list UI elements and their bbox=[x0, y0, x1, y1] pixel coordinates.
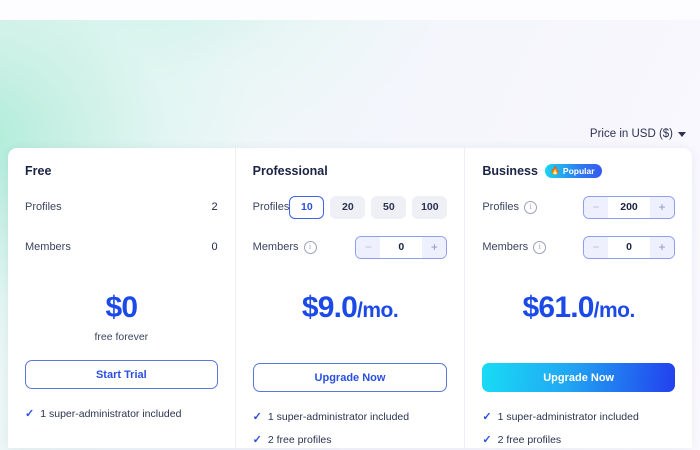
profiles-value[interactable]: 200 bbox=[608, 197, 650, 218]
price-block: $9.0/mo. bbox=[253, 291, 448, 346]
members-row: Membersi−0+ bbox=[482, 235, 675, 259]
profiles-value: 2 bbox=[212, 201, 218, 213]
price-period: /mo. bbox=[594, 299, 635, 322]
price-amount: $61.0 bbox=[523, 291, 594, 324]
feature-item: ✓1 super-administrator included bbox=[482, 411, 675, 423]
profiles-option-100[interactable]: 100 bbox=[412, 196, 447, 219]
profiles-option-50[interactable]: 50 bbox=[371, 196, 406, 219]
cta-button-professional[interactable]: Upgrade Now bbox=[253, 363, 448, 392]
profiles-label-group: Profiles bbox=[25, 201, 62, 213]
price-note: free forever bbox=[25, 331, 218, 343]
info-icon[interactable]: i bbox=[533, 241, 546, 254]
members-value[interactable]: 0 bbox=[380, 237, 422, 258]
profiles-option-20[interactable]: 20 bbox=[330, 196, 365, 219]
profiles-label: Profiles bbox=[253, 201, 290, 213]
check-icon: ✓ bbox=[253, 435, 262, 446]
check-icon: ✓ bbox=[25, 409, 34, 420]
profiles-decrement-button[interactable]: − bbox=[584, 197, 608, 218]
plan-card-free: FreeProfiles2Members0$0free foreverStart… bbox=[8, 148, 235, 448]
check-icon: ✓ bbox=[482, 435, 491, 446]
members-label: Members bbox=[25, 241, 71, 253]
chevron-down-icon bbox=[678, 132, 686, 137]
plan-name: Free bbox=[25, 164, 51, 178]
feature-list: ✓1 super-administrator included bbox=[25, 408, 218, 420]
plan-header: Professional bbox=[253, 163, 448, 179]
feature-label: 1 super-administrator included bbox=[40, 408, 181, 420]
members-increment-button[interactable]: + bbox=[650, 237, 674, 258]
plan-price: $0 bbox=[25, 291, 218, 325]
plan-name: Business bbox=[482, 164, 538, 178]
price-note-spacer bbox=[482, 334, 675, 346]
members-label: Members bbox=[253, 241, 299, 253]
feature-list: ✓1 super-administrator included✓2 free p… bbox=[482, 411, 675, 446]
info-icon[interactable]: i bbox=[304, 241, 317, 254]
plan-header: Free bbox=[25, 163, 218, 179]
feature-item: ✓2 free profiles bbox=[253, 434, 448, 446]
members-decrement-button[interactable]: − bbox=[584, 237, 608, 258]
members-label-group: Membersi bbox=[482, 241, 546, 254]
plan-name: Professional bbox=[253, 164, 328, 178]
info-icon[interactable]: i bbox=[524, 201, 537, 214]
profiles-label-group: Profiles bbox=[253, 201, 290, 213]
members-increment-button[interactable]: + bbox=[422, 237, 446, 258]
cta-button-business[interactable]: Upgrade Now bbox=[482, 363, 675, 392]
price-block: $0free forever bbox=[25, 291, 218, 343]
profiles-row: Profilesi−200+ bbox=[482, 195, 675, 219]
members-row: Membersi−0+ bbox=[253, 235, 448, 259]
profiles-option-10[interactable]: 10 bbox=[289, 196, 324, 219]
members-stepper: −0+ bbox=[583, 236, 675, 259]
members-row: Members0 bbox=[25, 235, 218, 259]
currency-selector[interactable]: Price in USD ($) bbox=[590, 128, 686, 140]
plan-card-professional: ProfessionalProfiles102050100Membersi−0+… bbox=[235, 148, 465, 448]
feature-item: ✓2 free profiles bbox=[482, 434, 675, 446]
feature-list: ✓1 super-administrator included✓2 free p… bbox=[253, 411, 448, 446]
members-label: Members bbox=[482, 241, 528, 253]
plan-header: Business🔥Popular bbox=[482, 163, 675, 179]
members-label-group: Membersi bbox=[253, 241, 317, 254]
cta-button-free[interactable]: Start Trial bbox=[25, 360, 218, 389]
check-icon: ✓ bbox=[482, 412, 491, 423]
plans-panel: FreeProfiles2Members0$0free foreverStart… bbox=[8, 148, 692, 448]
plan-card-business: Business🔥PopularProfilesi−200+Membersi−0… bbox=[464, 148, 692, 448]
members-stepper: −0+ bbox=[355, 236, 447, 259]
profiles-options: 102050100 bbox=[289, 196, 447, 219]
popular-badge-label: Popular bbox=[563, 167, 595, 176]
profiles-label: Profiles bbox=[25, 201, 62, 213]
fire-icon: 🔥 bbox=[550, 167, 560, 175]
profiles-label-group: Profilesi bbox=[482, 201, 537, 214]
feature-label: 2 free profiles bbox=[498, 434, 562, 446]
popular-badge: 🔥Popular bbox=[545, 164, 602, 178]
price-note-spacer bbox=[253, 334, 448, 346]
feature-item: ✓1 super-administrator included bbox=[25, 408, 218, 420]
price-block: $61.0/mo. bbox=[482, 291, 675, 346]
profiles-row: Profiles2 bbox=[25, 195, 218, 219]
members-decrement-button[interactable]: − bbox=[356, 237, 380, 258]
currency-label: Price in USD ($) bbox=[590, 128, 673, 140]
pricing-page: Choose the Best Pricing Plan for Your Te… bbox=[0, 20, 700, 450]
price-amount: $0 bbox=[105, 291, 137, 324]
feature-label: 1 super-administrator included bbox=[498, 411, 639, 423]
profiles-increment-button[interactable]: + bbox=[650, 197, 674, 218]
members-label-group: Members bbox=[25, 241, 71, 253]
members-value[interactable]: 0 bbox=[608, 237, 650, 258]
members-value: 0 bbox=[212, 241, 218, 253]
plan-price: $9.0/mo. bbox=[253, 291, 448, 328]
feature-label: 2 free profiles bbox=[268, 434, 332, 446]
profiles-label: Profiles bbox=[482, 201, 519, 213]
price-period: /mo. bbox=[357, 299, 398, 322]
plan-price: $61.0/mo. bbox=[482, 291, 675, 328]
profiles-stepper: −200+ bbox=[583, 196, 675, 219]
profiles-row: Profiles102050100 bbox=[253, 195, 448, 219]
feature-item: ✓1 super-administrator included bbox=[253, 411, 448, 423]
feature-label: 1 super-administrator included bbox=[268, 411, 409, 423]
price-amount: $9.0 bbox=[302, 291, 357, 324]
check-icon: ✓ bbox=[253, 412, 262, 423]
